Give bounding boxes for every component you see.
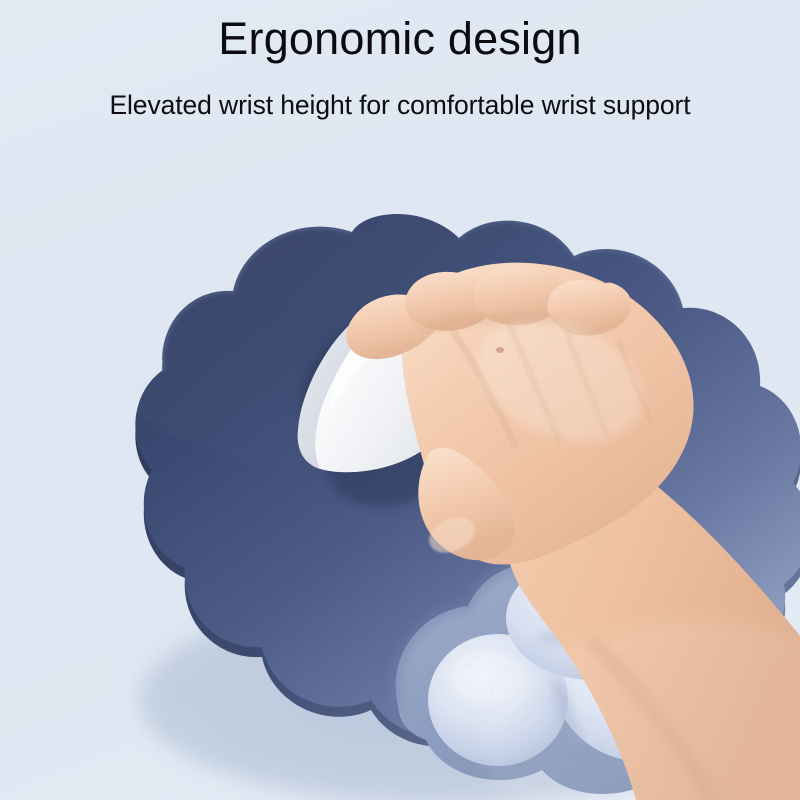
product-marketing-image: Ergonomic design Elevated wrist height f…: [0, 0, 800, 800]
text-block: Ergonomic design Elevated wrist height f…: [0, 0, 800, 120]
page-title: Ergonomic design: [0, 0, 800, 64]
product-illustration: [0, 0, 800, 800]
page-subtitle: Elevated wrist height for comfortable wr…: [0, 64, 800, 120]
